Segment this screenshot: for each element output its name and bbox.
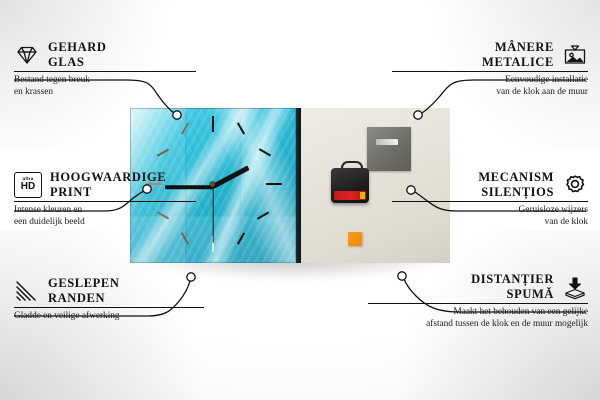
feature-rule xyxy=(14,201,196,202)
ultra-hd-icon: ultra HD xyxy=(14,172,42,198)
ultra-hd-large-text: HD xyxy=(21,182,35,192)
feature-manere-metalice: MÂNERE METALICE Eenvoudige installatie v… xyxy=(392,40,588,98)
feature-subtitle: Maakt het behouden van een gelijke afsta… xyxy=(368,307,588,330)
feature-header: GESLEPEN RANDEN xyxy=(14,276,204,305)
foam-spacer xyxy=(348,232,362,246)
picture-hanger-icon xyxy=(562,43,588,67)
feature-subtitle: Gladde en veilige afwerking xyxy=(14,311,204,323)
feature-header: MECANISM SILENȚIOS xyxy=(392,170,588,199)
battery xyxy=(334,191,366,200)
clock-tick xyxy=(212,116,214,132)
feature-gehard-glas: GEHARD GLAS Bestand tegen breuk en krass… xyxy=(14,40,196,98)
feature-rule xyxy=(368,303,588,304)
spacer-press-icon xyxy=(562,275,588,299)
feature-distantier-spuma: DISTANȚIER SPUMĂ Maakt het behouden van … xyxy=(368,272,588,330)
feature-title: GEHARD GLAS xyxy=(48,40,106,69)
feature-header: GEHARD GLAS xyxy=(14,40,196,69)
clock-second-hand xyxy=(212,187,213,243)
beveled-edge-icon xyxy=(14,279,40,303)
diamond-icon xyxy=(14,43,40,67)
feature-hoogwaardige-print: ultra HD HOOGWAARDIGE PRINT Intense kleu… xyxy=(14,170,196,228)
feature-header: MÂNERE METALICE xyxy=(392,40,588,69)
feature-geslepen-randen: GESLEPEN RANDEN Gladde en veilige afwerk… xyxy=(14,276,204,323)
feature-title: GESLEPEN RANDEN xyxy=(48,276,120,305)
feature-header: ultra HD HOOGWAARDIGE PRINT xyxy=(14,170,196,199)
feature-title: MÂNERE METALICE xyxy=(482,40,554,69)
clock-center-hub xyxy=(210,182,215,187)
feature-subtitle: Geruisloze wijzers van de klok xyxy=(392,205,588,228)
feature-header: DISTANȚIER SPUMĂ xyxy=(368,272,588,301)
feature-mecanism-silentios: MECANISM SILENȚIOS Geruisloze wijzers va… xyxy=(392,170,588,228)
feature-subtitle: Eenvoudige installatie van de klok aan d… xyxy=(392,75,588,98)
feature-subtitle: Bestand tegen breuk en krassen xyxy=(14,75,196,98)
infographic-canvas: GEHARD GLAS Bestand tegen breuk en krass… xyxy=(0,0,600,400)
feature-title: DISTANȚIER SPUMĂ xyxy=(471,272,554,301)
feature-rule xyxy=(14,71,196,72)
gear-icon xyxy=(562,173,588,197)
feature-rule xyxy=(14,307,204,308)
feature-title: HOOGWAARDIGE PRINT xyxy=(50,170,166,199)
metal-hanger-plate xyxy=(367,127,411,171)
feature-subtitle: Intense kleuren en een duidelijk beeld xyxy=(14,205,196,228)
feature-title: MECANISM SILENȚIOS xyxy=(478,170,554,199)
feature-rule xyxy=(392,201,588,202)
clock-tick xyxy=(266,183,282,185)
feature-rule xyxy=(392,71,588,72)
